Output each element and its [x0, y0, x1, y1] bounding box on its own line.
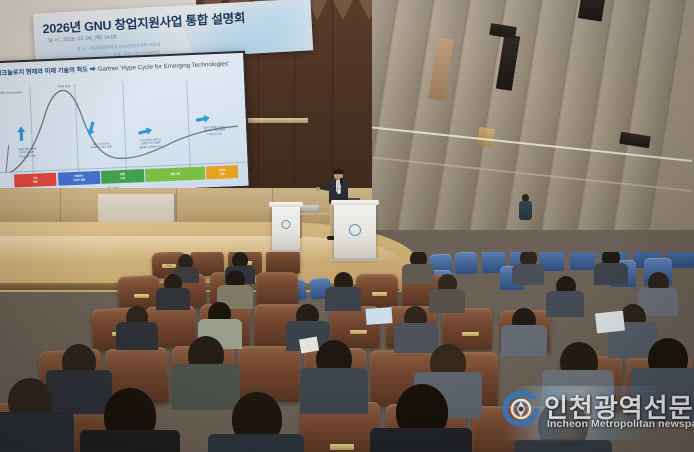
wall-recess	[578, 0, 606, 22]
wood-zigzag	[330, 0, 356, 20]
arrow-right-icon	[196, 114, 210, 124]
seat-number-plate	[330, 444, 354, 450]
slide-title-en: Gartner 'Hype Cycle for Emerging Technol…	[97, 60, 229, 73]
arrow-right-icon: ➡	[90, 66, 96, 73]
projection-screen: 테크놀로지 현재와 미래 기술의 척도 ➡ Gartner 'Hype Cycl…	[0, 51, 251, 199]
slide-note: 기술이 주류로 자리잡고 안정적인 시장 성과가 나타나는 단계	[194, 125, 234, 137]
presenter-hand	[316, 187, 320, 191]
phase-segment: 환멸 단계	[101, 169, 144, 184]
laptop	[300, 205, 319, 213]
wood-zigzag	[356, 0, 372, 20]
aisle-attendee	[519, 194, 532, 220]
auditorium-seat-brown	[256, 272, 298, 306]
lectern-emblem	[282, 220, 291, 229]
arrow-up-icon	[17, 126, 26, 141]
slide-note: 기대 수준이 낮아지고 실질적 수익 모델이 검증되기 시작하는 시기	[131, 138, 171, 150]
seat-number-plate	[134, 294, 149, 298]
phase-label: 환멸 단계	[120, 173, 125, 180]
phase-segment: 부풀려진 기대의 정점	[58, 171, 101, 186]
handout-paper	[365, 307, 392, 325]
presenter-badge	[337, 188, 341, 194]
side-lectern	[272, 206, 300, 250]
slide-title: 테크놀로지 현재와 미래 기술의 척도 ➡ Gartner 'Hype Cycl…	[0, 58, 244, 77]
podium-emblem	[349, 224, 361, 236]
phase-label: 부풀려진 기대의 정점	[73, 175, 85, 182]
microphone-icon	[340, 178, 343, 183]
seat-number-plate	[372, 292, 387, 296]
stage-wall-panel	[98, 194, 176, 224]
auditorium-seat-brown	[266, 252, 300, 274]
right-wall-panels	[330, 0, 694, 230]
slide-note: 기술의 태동 단계로 잠재적 기술이 관심을 끌기 시작	[7, 147, 47, 159]
phase-label: 계몽 단계	[170, 172, 180, 176]
auditorium-photo: 2026년 GNU 창업지원사업 통합 설명회 일 시 : 2026. 03. …	[0, 0, 694, 452]
arrow-down-icon	[87, 121, 96, 136]
seat-number-plate	[462, 332, 479, 336]
main-podium	[334, 204, 376, 258]
handout-paper	[595, 311, 625, 334]
seat-number-plate	[350, 330, 367, 334]
phase-label: 생산성 안정	[218, 169, 225, 176]
auditorium-seat-blue	[454, 252, 477, 275]
arrow-right-icon	[138, 127, 152, 137]
auditorium-seat-blue	[570, 252, 595, 270]
slide-title-kr: 테크놀로지 현재와 미래 기술의 척도	[0, 66, 88, 77]
auditorium-seat-brown	[356, 274, 398, 308]
phase-segment: 기술 촉발	[14, 173, 57, 188]
audience-seating: A-12	[0, 252, 694, 452]
phase-label: 기술 촉발	[33, 177, 38, 184]
phase-segment: 계몽 단계	[145, 167, 205, 182]
phase-segment: 생산성 안정	[206, 165, 238, 179]
